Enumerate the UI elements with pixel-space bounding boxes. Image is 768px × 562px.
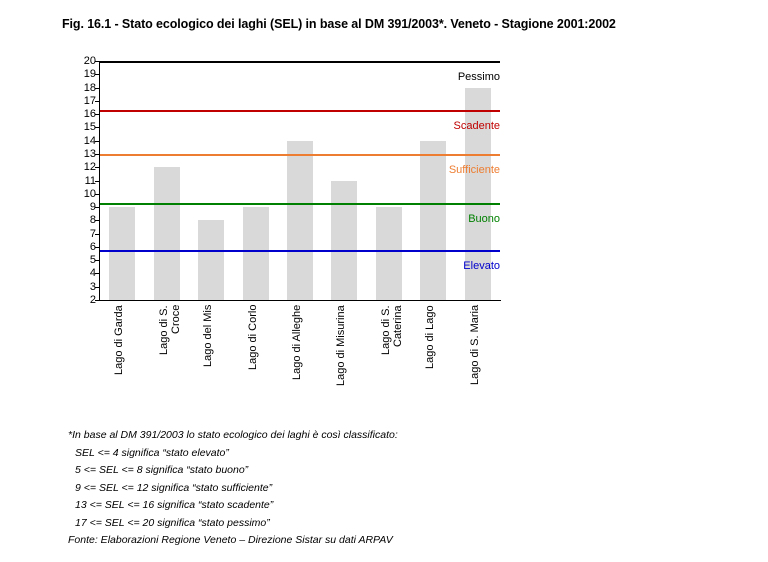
y-axis-tick-label: 12 — [62, 162, 96, 173]
footnote-line: *In base al DM 391/2003 lo stato ecologi… — [68, 427, 398, 445]
plot-area: PessimoScadenteSufficienteBuonoElevato — [100, 61, 500, 300]
y-axis-tick — [95, 101, 100, 102]
x-axis-category-label: Lago di Corlo — [247, 305, 259, 401]
x-axis-category-label: Lago di S. Caterina — [380, 305, 404, 401]
y-axis-tick — [95, 247, 100, 248]
y-axis-tick — [95, 167, 100, 168]
bar — [287, 141, 313, 300]
bar — [198, 220, 224, 300]
threshold-line-elevato — [100, 250, 500, 252]
threshold-label-pessimo: Pessimo — [458, 72, 500, 83]
y-axis-tick-label: 13 — [62, 149, 96, 160]
bar — [331, 181, 357, 301]
y-axis-tick-label: 19 — [62, 69, 96, 80]
y-axis-tick — [95, 194, 100, 195]
footnote-line: 17 <= SEL <= 20 significa “stato pessimo… — [68, 515, 398, 533]
y-axis-tick-label: 3 — [62, 282, 96, 293]
threshold-line-scadente — [100, 110, 500, 112]
y-axis-tick-label: 16 — [62, 109, 96, 120]
y-axis-tick — [95, 300, 100, 301]
y-axis-tick — [95, 127, 100, 128]
y-axis-tick — [95, 207, 100, 208]
footnote-line: SEL <= 4 significa “stato elevato” — [68, 445, 398, 463]
threshold-line-buono — [100, 203, 500, 205]
threshold-label-elevato: Elevato — [463, 261, 500, 272]
bar — [109, 207, 135, 300]
y-axis-tick — [95, 287, 100, 288]
y-axis-tick — [95, 88, 100, 89]
y-axis-tick — [95, 220, 100, 221]
source-note: Fonte: Elaborazioni Regione Veneto – Dir… — [68, 532, 398, 550]
y-axis-tick — [95, 74, 100, 75]
x-axis-category-label: Lago del Mis — [202, 305, 214, 401]
footnote-line: 9 <= SEL <= 12 significa “stato sufficie… — [68, 480, 398, 498]
footnote-line: 13 <= SEL <= 16 significa “stato scadent… — [68, 497, 398, 515]
y-axis-tick — [95, 273, 100, 274]
x-axis-category-label: Lago di S. Croce — [158, 305, 182, 401]
x-axis-category-label: Lago di Alleghe — [291, 305, 303, 401]
bar — [420, 141, 446, 300]
y-axis-tick-label: 14 — [62, 136, 96, 147]
y-axis-tick-label: 5 — [62, 255, 96, 266]
x-axis-category-label: Lago di Lago — [424, 305, 436, 401]
y-axis-tick-label: 18 — [62, 83, 96, 94]
y-axis-tick-label: 11 — [62, 176, 96, 187]
y-axis-tick-label: 2 — [62, 295, 96, 306]
y-axis-tick-label: 10 — [62, 189, 96, 200]
y-axis-tick — [95, 114, 100, 115]
y-axis-tick-label: 15 — [62, 122, 96, 133]
y-axis-tick — [95, 234, 100, 235]
y-axis-tick-label: 4 — [62, 268, 96, 279]
page-title: Fig. 16.1 - Stato ecologico dei laghi (S… — [62, 17, 616, 31]
y-axis-tick-label: 7 — [62, 229, 96, 240]
footnotes: *In base al DM 391/2003 lo stato ecologi… — [68, 427, 398, 550]
footnote-line: 5 <= SEL <= 8 significa “stato buono” — [68, 462, 398, 480]
threshold-line-sufficiente — [100, 154, 500, 156]
y-axis-tick-label: 20 — [62, 56, 96, 67]
y-axis-tick-label: 6 — [62, 242, 96, 253]
x-axis-category-label: Lago di Garda — [113, 305, 125, 401]
y-axis-tick-label: 8 — [62, 215, 96, 226]
threshold-label-buono: Buono — [468, 214, 500, 225]
threshold-line-pessimo — [100, 61, 500, 63]
x-axis-category-label: Lago di S. Maria — [469, 305, 481, 401]
y-axis-tick-label: 17 — [62, 96, 96, 107]
y-axis-tick-label: 9 — [62, 202, 96, 213]
y-axis-tick — [95, 181, 100, 182]
x-axis-category-label: Lago di Misurina — [335, 305, 347, 401]
y-axis-tick — [95, 141, 100, 142]
bar — [154, 167, 180, 300]
y-axis-tick — [95, 260, 100, 261]
bar — [376, 207, 402, 300]
x-axis-line — [99, 300, 501, 301]
bar — [243, 207, 269, 300]
threshold-label-scadente: Scadente — [454, 121, 500, 132]
threshold-label-sufficiente: Sufficiente — [449, 165, 500, 176]
